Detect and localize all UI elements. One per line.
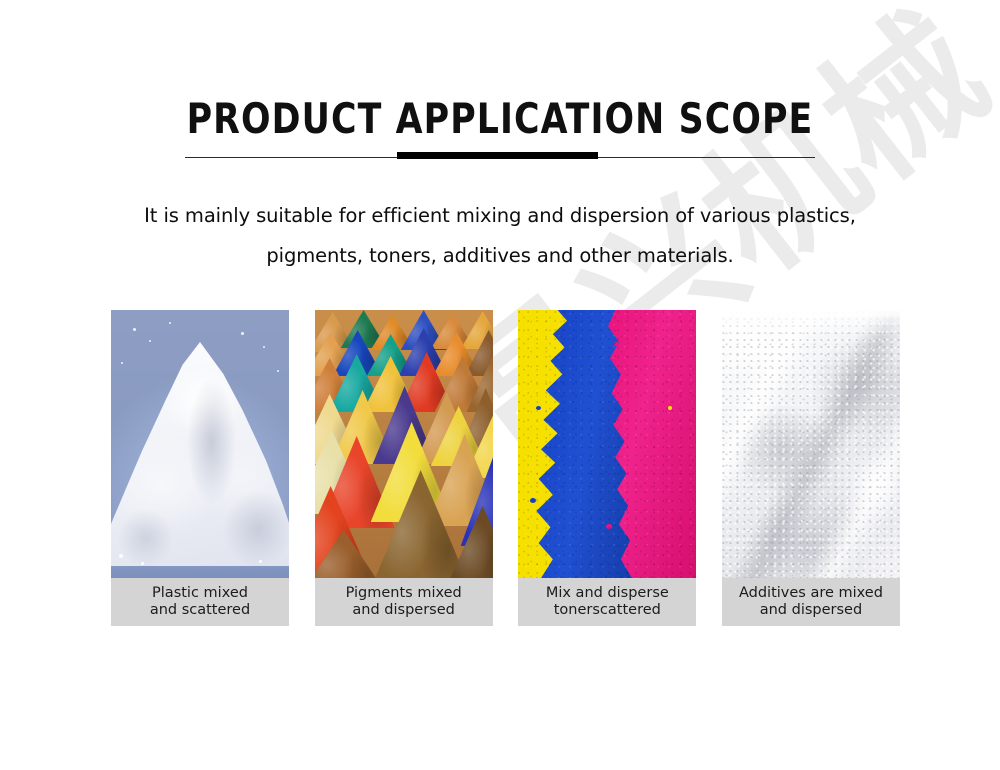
gallery-card-caption: Plastic mixed and scattered [111, 578, 289, 626]
powder-speck [169, 322, 171, 324]
caption-line-2: tonerscattered [554, 602, 661, 619]
powder-speck [141, 562, 144, 565]
powder-speck [133, 328, 136, 331]
powder-grain-texture [722, 310, 900, 578]
caption-line-2: and dispersed [760, 602, 862, 619]
powder-speck [241, 332, 244, 335]
powder-speck [259, 560, 262, 563]
white-plastic-powder-heap-photo [111, 310, 289, 578]
powder-speck [121, 362, 123, 364]
powder-speck [119, 554, 123, 558]
intro-line-1: It is mainly suitable for efficient mixi… [100, 196, 900, 236]
title-divider-accent [397, 152, 598, 159]
gallery-card-toner: Mix and disperse tonerscattered [518, 310, 696, 626]
caption-line-2: and dispersed [352, 602, 454, 619]
intro-paragraph: It is mainly suitable for efficient mixi… [100, 196, 900, 276]
powder-speck [149, 340, 151, 342]
product-application-scope-page: 昌兴机械 PRODUCT APPLICATION SCOPE It is mai… [0, 0, 1000, 770]
application-gallery: Plastic mixed and scattered [111, 310, 900, 626]
powder-speck [263, 346, 265, 348]
caption-line-2: and scattered [150, 602, 250, 619]
caption-line-1: Pigments mixed [346, 585, 462, 602]
gallery-card-caption: Mix and disperse tonerscattered [518, 578, 696, 626]
caption-line-1: Plastic mixed [152, 585, 248, 602]
top-blur-band [722, 310, 900, 336]
intro-line-2: pigments, toners, additives and other ma… [100, 236, 900, 276]
gallery-card-pigments: Pigments mixed and dispersed [315, 310, 493, 626]
table-surface [111, 566, 289, 578]
page-title: PRODUCT APPLICATION SCOPE [40, 94, 960, 143]
powder-heap-shading [111, 342, 289, 570]
caption-line-1: Mix and disperse [546, 585, 669, 602]
gallery-card-caption: Pigments mixed and dispersed [315, 578, 493, 626]
caption-line-1: Additives are mixed [739, 585, 883, 602]
powder-speck [277, 370, 279, 372]
gallery-card-caption: Additives are mixed and dispersed [722, 578, 900, 626]
colored-pigment-powder-cones-photo [315, 310, 493, 578]
white-additive-powder-photo [722, 310, 900, 578]
gallery-card-additives: Additives are mixed and dispersed [722, 310, 900, 626]
cmy-toner-powder-photo [518, 310, 696, 578]
toner-grain-texture [518, 310, 696, 578]
gallery-card-plastic: Plastic mixed and scattered [111, 310, 289, 626]
